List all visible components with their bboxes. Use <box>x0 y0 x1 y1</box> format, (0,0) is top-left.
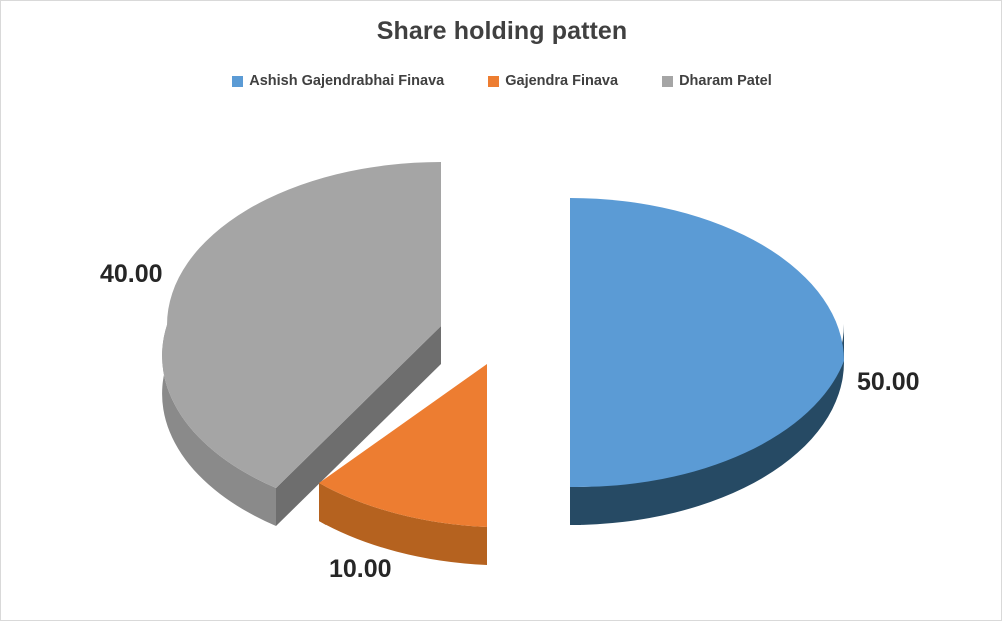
pie-slice-ashish[interactable] <box>570 198 844 525</box>
data-label-ashish: 50.00 <box>857 368 920 396</box>
chart-container[interactable]: Share holding patten Ashish Gajendrabhai… <box>0 0 1002 621</box>
data-label-dharam: 40.00 <box>100 260 163 288</box>
pie-chart-plot <box>1 1 1002 621</box>
data-label-gajendra: 10.00 <box>329 555 392 583</box>
